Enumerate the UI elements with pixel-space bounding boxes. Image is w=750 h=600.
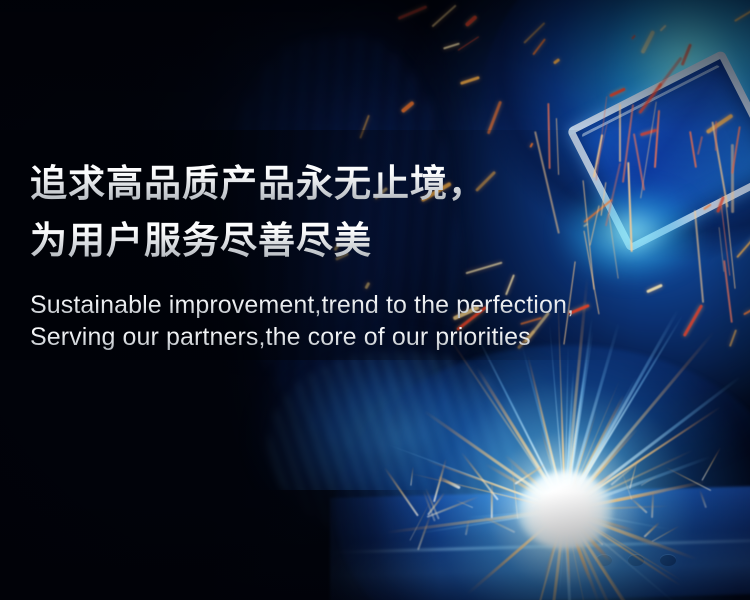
headline-chinese-line-2: 为用户服务尽善尽美 (30, 212, 720, 269)
headline-english-line-2: Serving our partners,the core of our pri… (30, 321, 720, 353)
headline-chinese-line-1: 追求高品质产品永无止境， (30, 155, 720, 212)
headline-english-line-1: Sustainable improvement,trend to the per… (30, 289, 720, 321)
welding-hero-banner: 追求高品质产品永无止境， 为用户服务尽善尽美 Sustainable impro… (0, 0, 750, 600)
headline-block: 追求高品质产品永无止境， 为用户服务尽善尽美 Sustainable impro… (30, 155, 720, 353)
